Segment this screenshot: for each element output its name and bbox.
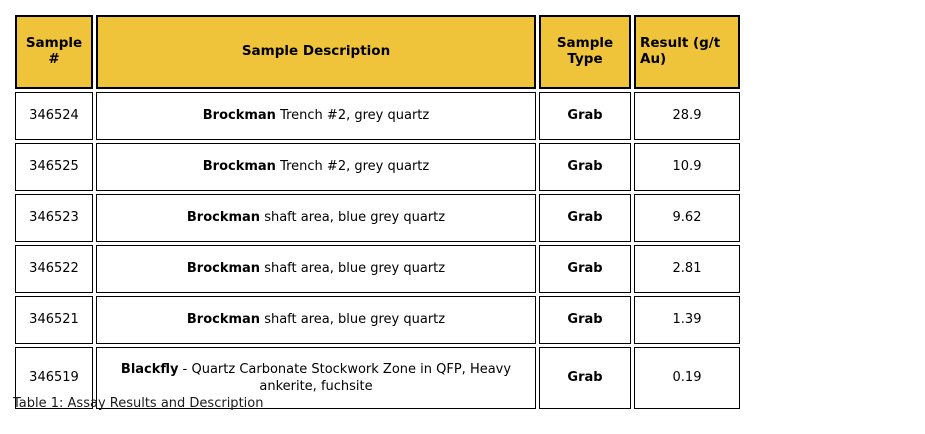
column-header-sample-number: Sample # xyxy=(15,15,93,89)
table-body: 346524Brockman Trench #2, grey quartzGra… xyxy=(15,92,740,409)
description-detail-text: shaft area, blue grey quartz xyxy=(260,312,445,327)
cell-result-gpt-au: 0.19 xyxy=(634,347,740,409)
cell-sample-description: Brockman shaft area, blue grey quartz xyxy=(96,194,536,242)
table-row: 346522Brockman shaft area, blue grey qua… xyxy=(15,245,740,293)
cell-sample-number: 346522 xyxy=(15,245,93,293)
cell-result-gpt-au: 28.9 xyxy=(634,92,740,140)
cell-result-gpt-au: 9.62 xyxy=(634,194,740,242)
cell-sample-type: Grab xyxy=(539,347,631,409)
cell-result-gpt-au: 2.81 xyxy=(634,245,740,293)
cell-sample-description: Brockman shaft area, blue grey quartz xyxy=(96,296,536,344)
header-line-2: Type xyxy=(567,51,602,67)
cell-sample-description: Brockman Trench #2, grey quartz xyxy=(96,143,536,191)
table-row: 346525Brockman Trench #2, grey quartzGra… xyxy=(15,143,740,191)
cell-sample-description: Brockman Trench #2, grey quartz xyxy=(96,92,536,140)
header-row: Sample # Sample Description Sample Type … xyxy=(15,15,740,89)
description-detail-text: Trench #2, grey quartz xyxy=(276,159,429,174)
description-detail-text: shaft area, blue grey quartz xyxy=(260,261,445,276)
cell-sample-number: 346523 xyxy=(15,194,93,242)
column-header-sample-type: Sample Type xyxy=(539,15,631,89)
header-line-1: Sample xyxy=(557,35,613,51)
table-caption: Table 1: Assay Results and Description xyxy=(13,396,263,413)
table-row: 346521Brockman shaft area, blue grey qua… xyxy=(15,296,740,344)
header-line-2: # xyxy=(48,51,59,67)
column-header-sample-description: Sample Description xyxy=(96,15,536,89)
cell-sample-number: 346525 xyxy=(15,143,93,191)
description-detail-text: - Quartz Carbonate Stockwork Zone in QFP… xyxy=(179,362,512,394)
cell-sample-type: Grab xyxy=(539,296,631,344)
cell-sample-type: Grab xyxy=(539,143,631,191)
description-location-name: Brockman xyxy=(187,210,260,225)
cell-sample-type: Grab xyxy=(539,245,631,293)
cell-sample-type: Grab xyxy=(539,194,631,242)
cell-sample-type: Grab xyxy=(539,92,631,140)
table-row: 346524Brockman Trench #2, grey quartzGra… xyxy=(15,92,740,140)
description-location-name: Brockman xyxy=(187,312,260,327)
cell-result-gpt-au: 10.9 xyxy=(634,143,740,191)
header-line-1: Sample xyxy=(26,35,82,51)
description-location-name: Blackfly xyxy=(121,362,179,377)
description-detail-text: Trench #2, grey quartz xyxy=(276,108,429,123)
description-detail-text: shaft area, blue grey quartz xyxy=(260,210,445,225)
description-location-name: Brockman xyxy=(187,261,260,276)
assay-results-table: Sample # Sample Description Sample Type … xyxy=(12,12,743,412)
cell-sample-number: 346521 xyxy=(15,296,93,344)
description-location-name: Brockman xyxy=(203,108,276,123)
cell-result-gpt-au: 1.39 xyxy=(634,296,740,344)
table-header: Sample # Sample Description Sample Type … xyxy=(15,15,740,89)
cell-sample-description: Brockman shaft area, blue grey quartz xyxy=(96,245,536,293)
description-location-name: Brockman xyxy=(203,159,276,174)
cell-sample-number: 346524 xyxy=(15,92,93,140)
table-row: 346523Brockman shaft area, blue grey qua… xyxy=(15,194,740,242)
column-header-result: Result (g/t Au) xyxy=(634,15,740,89)
